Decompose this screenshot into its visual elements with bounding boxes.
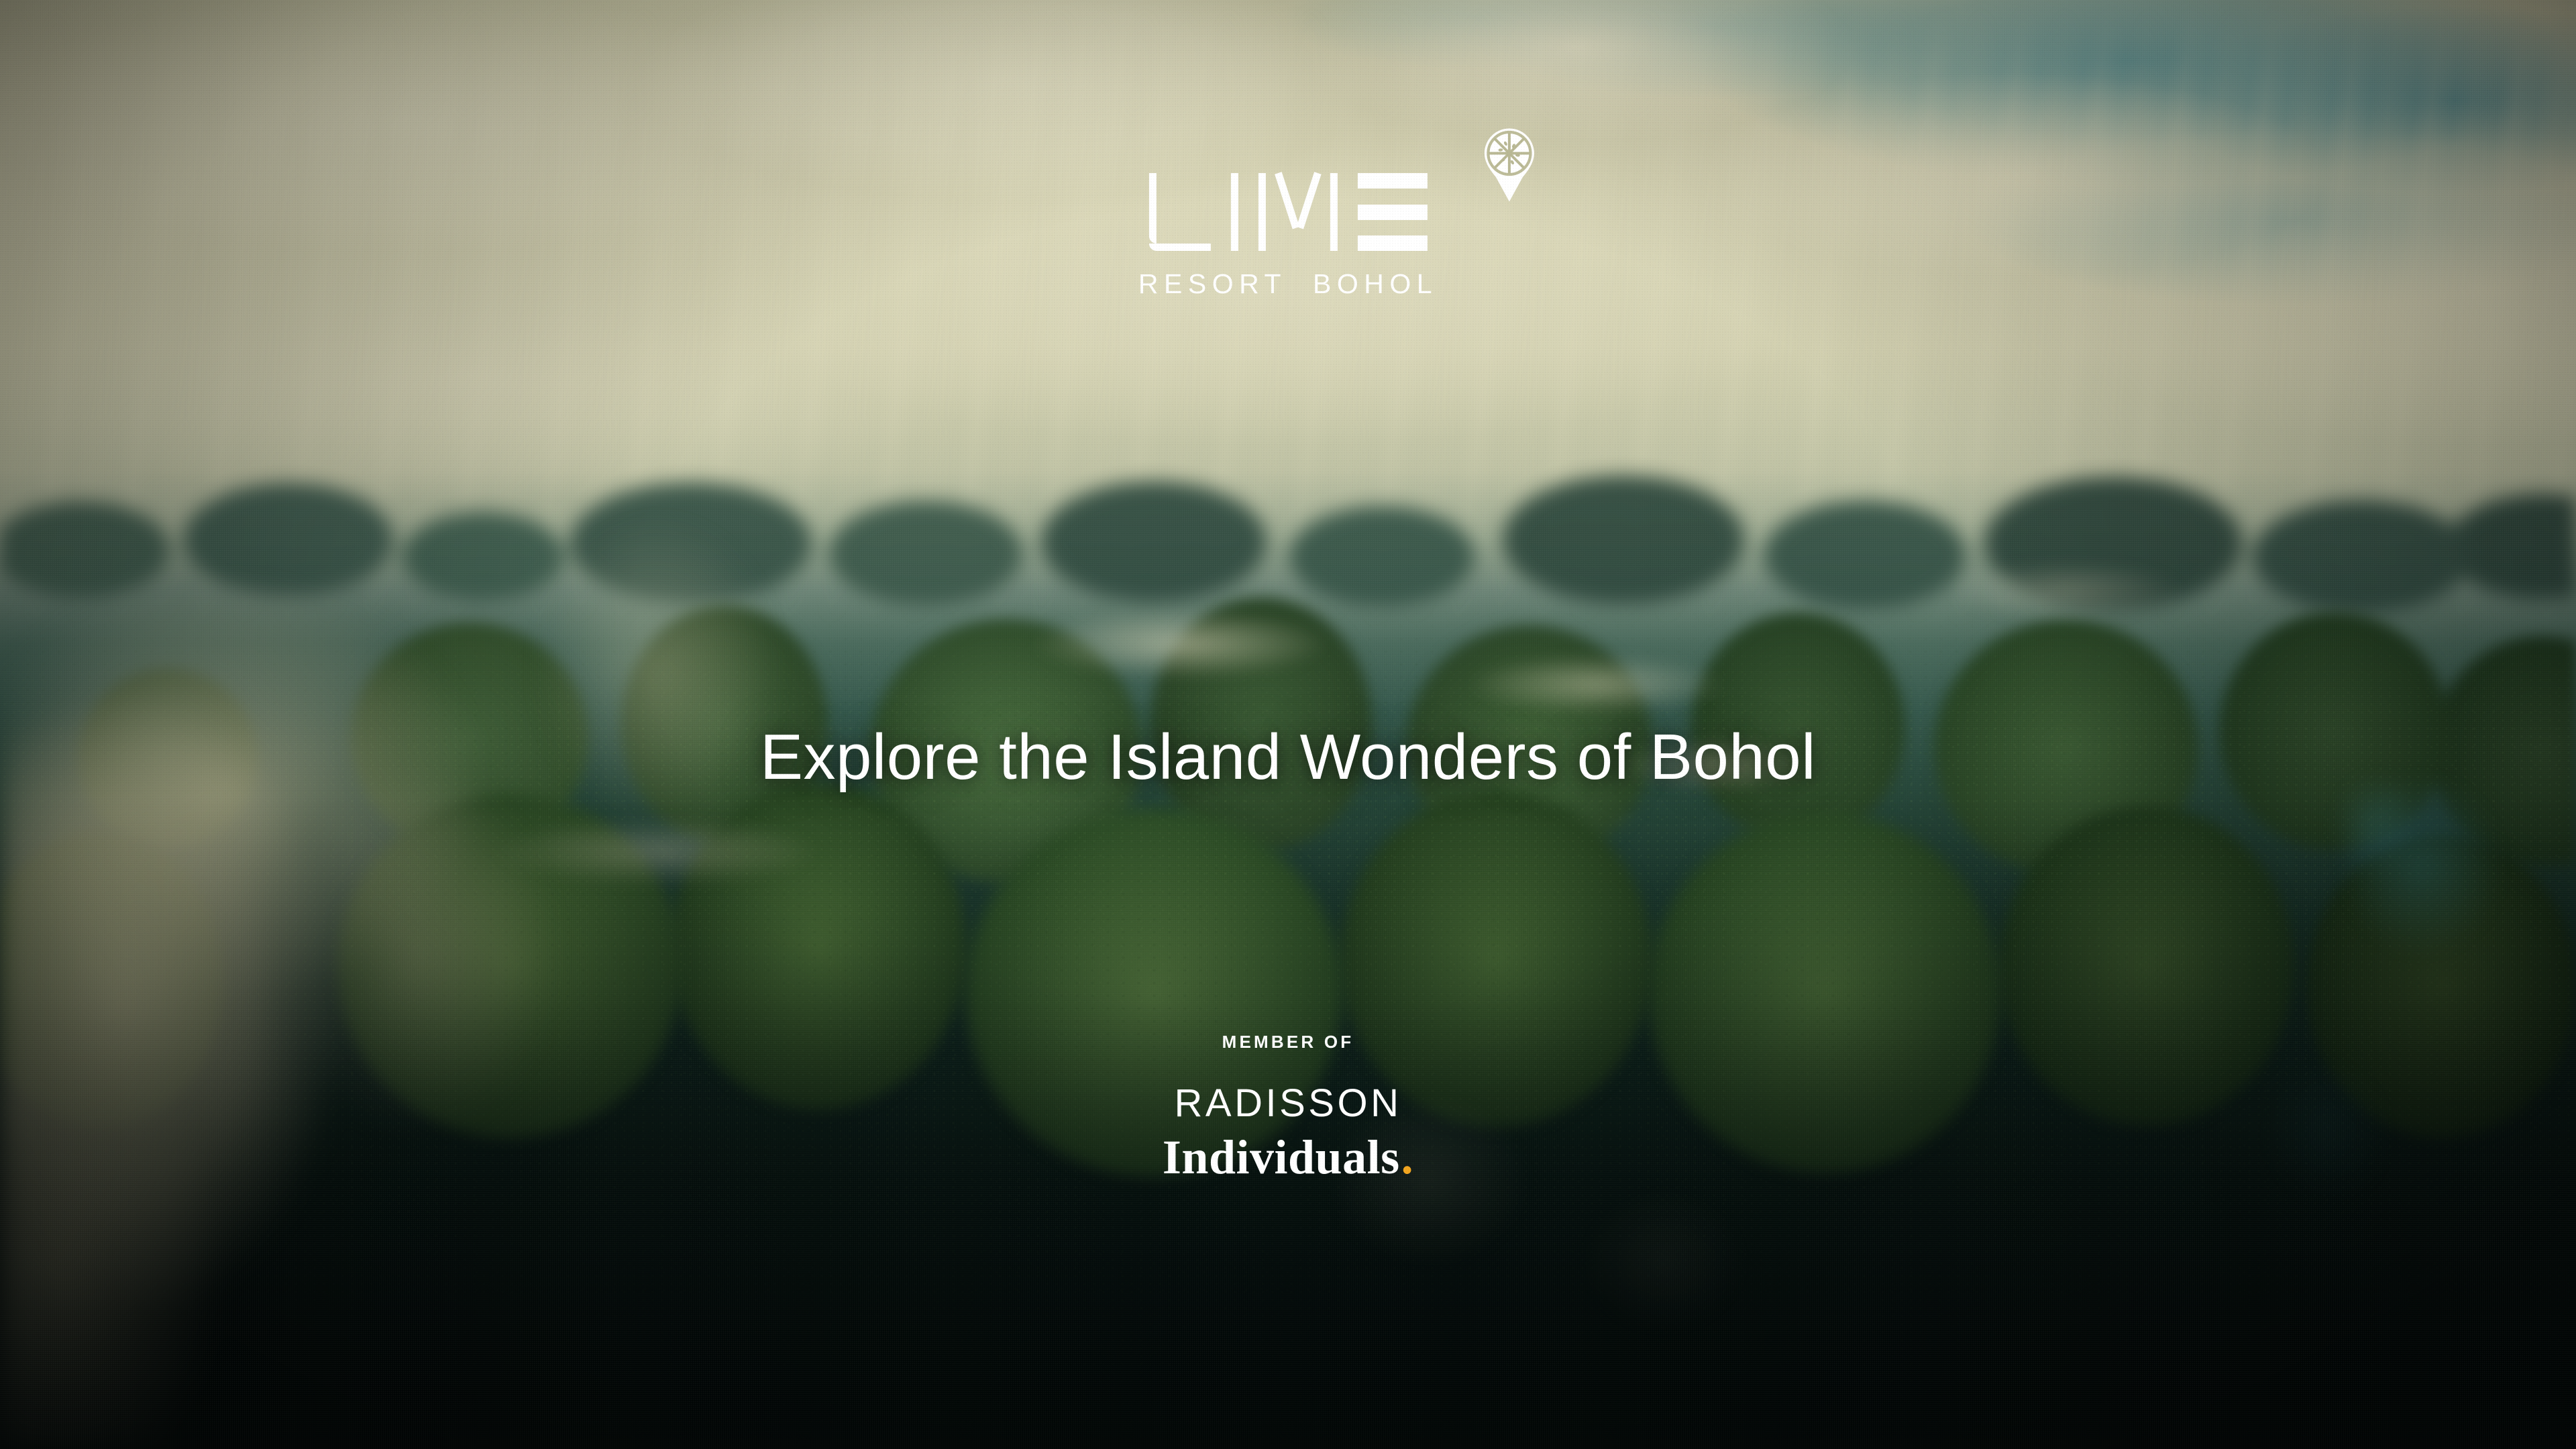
wordmark-letter-m [1258,173,1338,251]
brand-logo-lockup[interactable]: RESORT BOHOL [1138,173,1438,300]
radisson-wordmark: RADISSON [1175,1081,1402,1126]
wordmark-letter-i [1231,173,1238,251]
wordmark-letter-e [1358,173,1428,251]
wordmark-letter-l [1149,173,1211,251]
individuals-wordmark: Individuals [1163,1130,1400,1185]
brand-wordmark-row [1149,173,1428,251]
individuals-accent-dot: . [1401,1130,1414,1185]
individuals-wordmark-row: Individuals . [1163,1130,1413,1185]
hero-splash-screen: RESORT BOHOL Explore the Island Wonders … [0,0,2576,1449]
hero-content: RESORT BOHOL Explore the Island Wonders … [0,0,2576,1449]
page-title: Explore the Island Wonders of Bohol [0,720,2576,794]
brand-tagline: RESORT BOHOL [1138,268,1438,300]
member-of-lockup: MEMBER OF RADISSON Individuals . [0,1032,2576,1185]
brand-wordmark-lime [1149,173,1428,251]
lime-slice-map-pin-icon [1482,127,1537,203]
member-of-eyebrow: MEMBER OF [1222,1032,1354,1053]
